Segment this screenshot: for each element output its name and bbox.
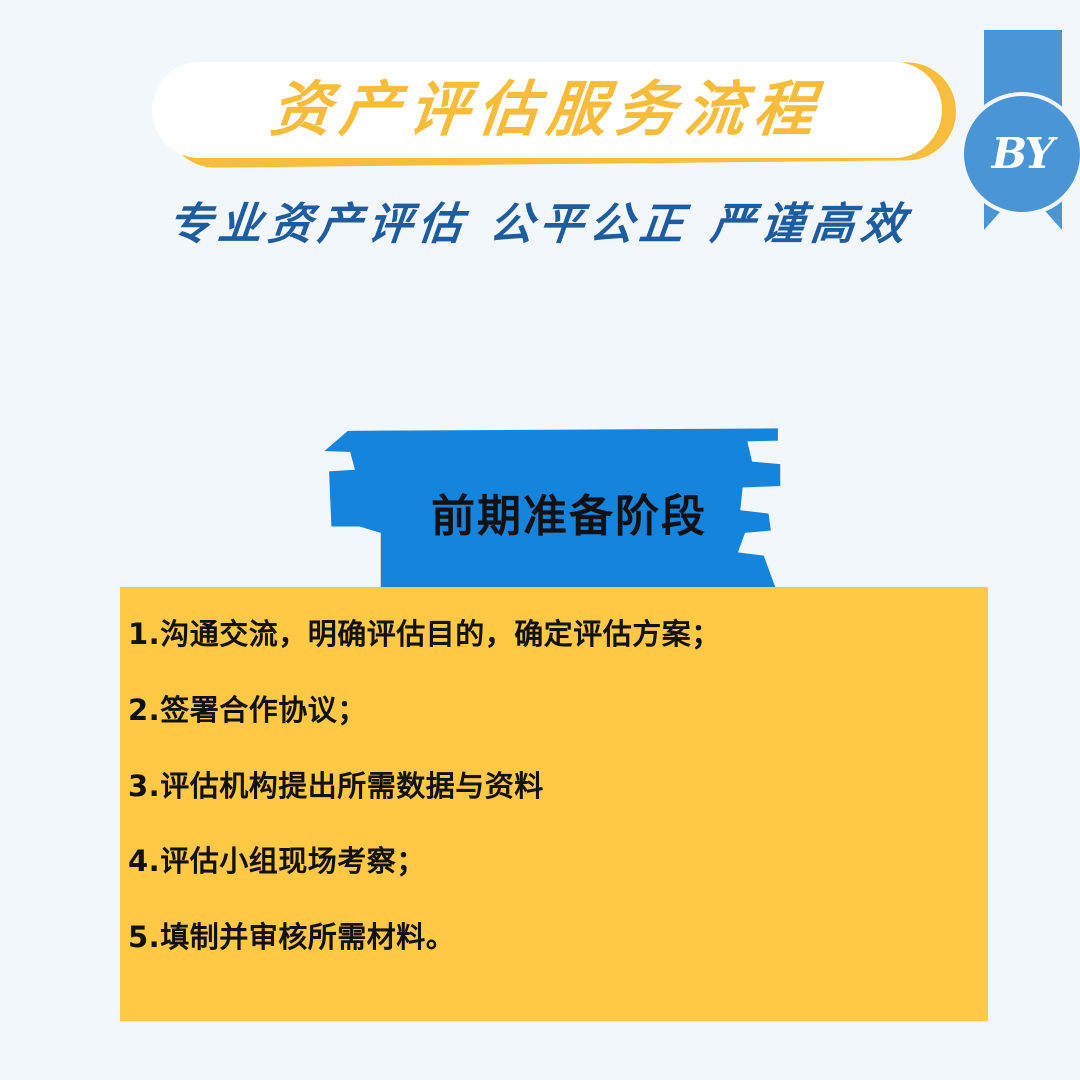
list-item: 3.评估机构提出所需数据与资料 — [120, 769, 988, 804]
ribbon-badge: BY — [984, 30, 1062, 230]
header: 资产评估服务流程 专业资产评估 公平公正 严谨高效 BY — [0, 0, 1080, 280]
badge-circle: BY — [960, 92, 1080, 216]
title-pill: 资产评估服务流程 — [152, 62, 942, 158]
stage-title: 前期准备阶段 — [334, 480, 804, 544]
list-item: 5.填制并审核所需材料。 — [120, 920, 988, 955]
content-card: 1.沟通交流，明确评估目的，确定评估方案； 2.签署合作协议； 3.评估机构提出… — [120, 587, 988, 1021]
list-item: 1.沟通交流，明确评估目的，确定评估方案； — [120, 617, 988, 652]
stage-banner: 前期准备阶段 — [322, 426, 792, 588]
list-item: 4.评估小组现场考察； — [120, 844, 988, 879]
list-item: 2.签署合作协议； — [120, 693, 988, 728]
steps-list: 1.沟通交流，明确评估目的，确定评估方案； 2.签署合作协议； 3.评估机构提出… — [120, 617, 988, 955]
page-title: 资产评估服务流程 — [268, 80, 826, 140]
page-subtitle: 专业资产评估 公平公正 严谨高效 — [0, 188, 1080, 252]
badge-initials: BY — [992, 133, 1053, 175]
